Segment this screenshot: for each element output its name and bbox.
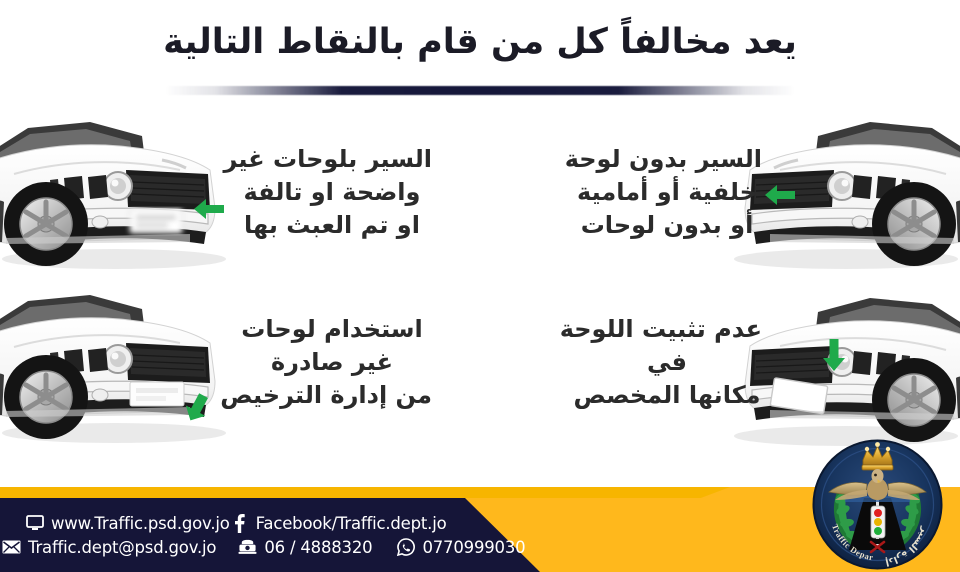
monitor-icon [25,514,44,533]
footer-email-label: Traffic.dept@psd.gov.jo [28,538,216,557]
violation-text-unclear-damaged-plate: السير بلوحات غير واضحة او تالفة او تم ال… [232,143,432,242]
violation-text-no-plate: السير بدون لوحة خلفية أو أمامية أو بدون … [572,143,762,242]
arrow-left-icon-unclear-plate [192,196,226,222]
facebook-icon [230,514,249,533]
violation-text-unauthorized-plate: استخدام لوحات غير صادرة من إدارة الترخيص [232,313,432,412]
arrow-down-icon-plate-not-fixed [820,338,848,372]
license-plate-unauthorized [130,382,184,406]
footer-phone-label: 06 / 4888320 [264,538,372,557]
footer-website-label: www.Traffic.psd.gov.jo [51,514,230,533]
footer-contact-block: www.Traffic.psd.gov.jo Facebook/Traffic.… [0,498,470,572]
footer-facebook-label: Facebook/Traffic.dept.jo [256,514,447,533]
arrow-left-icon-no-plate [763,182,797,208]
page-title: يعد مخالفاً كل من قام بالنقاط التالية [0,22,960,62]
arrow-up-left-icon-unauthorized-plate [182,392,212,424]
telephone-icon [238,538,257,557]
envelope-icon [2,538,21,557]
title-underline-bar [165,86,795,95]
footer-yellow-top-strip [0,487,730,498]
footer-row-1: www.Traffic.psd.gov.jo Facebook/Traffic.… [0,514,470,533]
license-plate-blurred [130,209,182,233]
traffic-department-emblem: Traffic Department إدارة السير [811,438,944,571]
footer-email[interactable]: Traffic.dept@psd.gov.jo [2,538,216,557]
infographic-poster: يعد مخالفاً كل من قام بالنقاط التالية [0,0,960,572]
footer-website[interactable]: www.Traffic.psd.gov.jo [25,514,230,533]
whatsapp-icon [396,538,415,557]
footer-phone[interactable]: 06 / 4888320 [238,538,372,557]
car-image-unauthorized-plate [0,287,240,452]
title-area: يعد مخالفاً كل من قام بالنقاط التالية [0,22,960,62]
footer-facebook[interactable]: Facebook/Traffic.dept.jo [230,514,447,533]
footer-whatsapp[interactable]: 0770999030 [396,538,525,557]
footer-row-2: Traffic.dept@psd.gov.jo 06 / 4888320 [0,538,470,557]
traffic-light [871,506,885,538]
violation-text-plate-not-fixed: عدم تثبيت اللوحة في مكانها المخصص [572,313,762,412]
footer-whatsapp-label: 0770999030 [422,538,525,557]
